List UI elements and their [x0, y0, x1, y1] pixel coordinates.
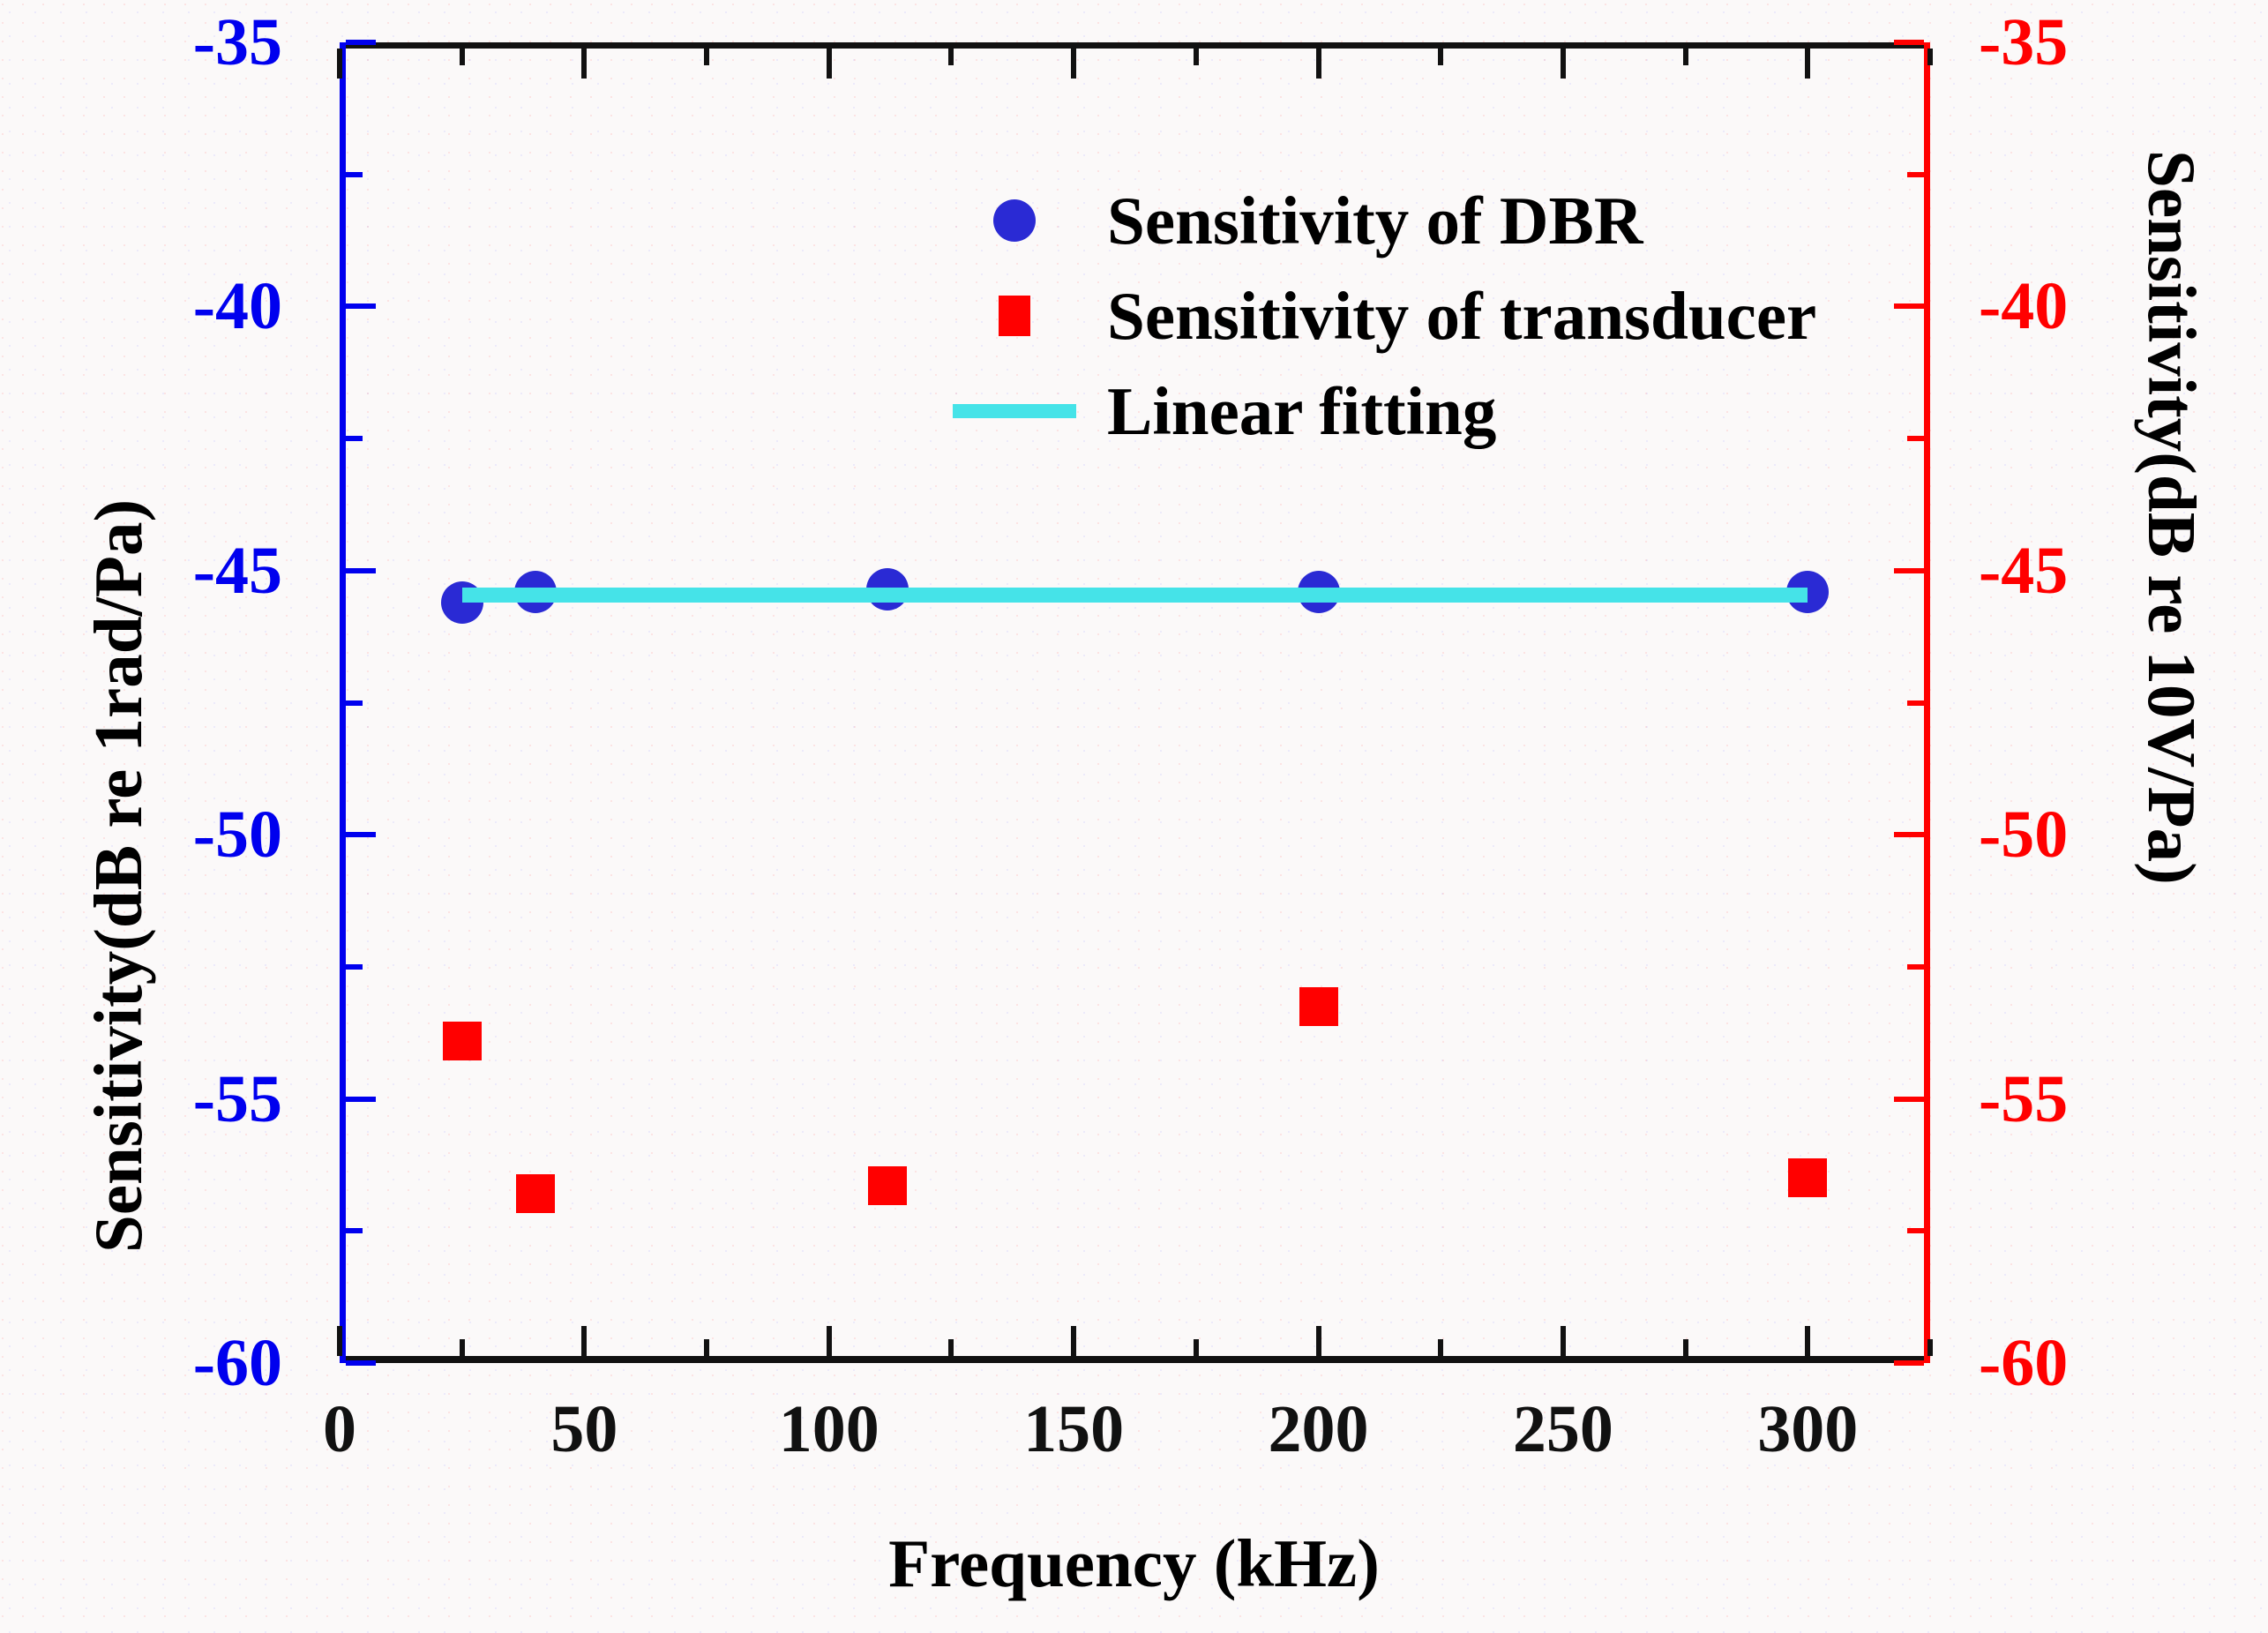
x-tick-label-0: 0	[207, 1396, 472, 1463]
x-tick-175	[1194, 1339, 1199, 1356]
x-tick-300	[1805, 1326, 1810, 1356]
x-tick-top-150	[1071, 49, 1076, 79]
y-tick-label-right--40: -40	[1979, 273, 2173, 340]
x-tick-top-0	[337, 49, 342, 79]
legend-item-label: Sensitivity of DBR	[1107, 187, 1643, 255]
legend-item-label: Sensitivity of transducer	[1107, 282, 1816, 350]
y-tick-label-left--55: -55	[106, 1066, 282, 1133]
chart-legend: Sensitivity of DBRSensitivity of transdu…	[922, 173, 1910, 459]
x-tick-125	[948, 1339, 954, 1356]
x-tick-top-225	[1438, 49, 1443, 65]
x-tick-150	[1071, 1326, 1076, 1356]
x-tick-top-75	[704, 49, 709, 65]
x-tick-200	[1316, 1326, 1321, 1356]
legend-item-2[interactable]: Linear fitting	[922, 363, 1910, 459]
top-axis-line	[340, 42, 1930, 49]
line-marker-icon	[953, 404, 1076, 418]
x-tick-0	[337, 1326, 342, 1356]
left-y-axis-title: Sensitivity(dB re 1rad/Pa)	[85, 499, 153, 1253]
x-tick-label-100: 100	[697, 1396, 962, 1463]
transducer-data-point-4	[1788, 1158, 1827, 1197]
y-tick-label-left--60: -60	[106, 1330, 282, 1397]
y-tick-left--52.5	[346, 964, 363, 970]
x-tick-top-50	[581, 49, 587, 79]
y-tick-left--42.5	[346, 436, 363, 441]
x-tick-top-25	[460, 49, 465, 65]
y-tick-label-right--50: -50	[1979, 801, 2173, 868]
y-tick-label-left--35: -35	[106, 9, 282, 76]
y-tick-right--55	[1894, 1097, 1924, 1102]
x-tick-label-300: 300	[1675, 1396, 1940, 1463]
legend-item-1[interactable]: Sensitivity of transducer	[922, 268, 1910, 363]
x-tick-75	[704, 1339, 709, 1356]
y-tick-left--60	[346, 1360, 376, 1366]
y-tick-label-left--50: -50	[106, 801, 282, 868]
x-tick-50	[581, 1326, 587, 1356]
y-tick-right--35	[1894, 40, 1924, 45]
x-axis-title: Frequency (kHz)	[0, 1530, 2268, 1598]
legend-item-label: Linear fitting	[1107, 378, 1496, 446]
x-tick-top-125	[948, 49, 954, 65]
chart-figure: Sensitivity(dB re 1rad/Pa) Sensitivity(d…	[0, 0, 2268, 1633]
x-tick-top-325	[1927, 49, 1933, 65]
y-tick-right--47.5	[1907, 700, 1924, 706]
transducer-data-point-2	[868, 1166, 907, 1205]
x-tick-250	[1561, 1326, 1566, 1356]
y-tick-left--47.5	[346, 700, 363, 706]
legend-marker-wrap-1	[922, 296, 1107, 336]
x-tick-label-150: 150	[941, 1396, 1206, 1463]
y-tick-left--45	[346, 568, 376, 573]
x-tick-top-275	[1683, 49, 1688, 65]
y-tick-right--60	[1894, 1360, 1924, 1366]
plot-area: Sensitivity of DBRSensitivity of transdu…	[340, 42, 1930, 1363]
y-tick-left--40	[346, 303, 376, 309]
y-tick-label-right--60: -60	[1979, 1330, 2173, 1397]
transducer-data-point-1	[516, 1174, 555, 1213]
y-tick-label-left--40: -40	[106, 273, 282, 340]
x-tick-label-200: 200	[1186, 1396, 1451, 1463]
y-tick-left--50	[346, 832, 376, 837]
square-marker-icon	[999, 296, 1030, 336]
left-axis-line	[340, 42, 346, 1363]
y-tick-label-right--55: -55	[1979, 1066, 2173, 1133]
y-tick-right--45	[1894, 568, 1924, 573]
x-tick-325	[1927, 1339, 1933, 1356]
y-tick-label-right--35: -35	[1979, 9, 2173, 76]
transducer-data-point-3	[1299, 987, 1338, 1026]
legend-marker-wrap-0	[922, 199, 1107, 242]
x-tick-top-300	[1805, 49, 1810, 79]
y-tick-right--52.5	[1907, 964, 1924, 970]
y-tick-right--57.5	[1907, 1228, 1924, 1233]
x-tick-top-100	[827, 49, 832, 79]
transducer-data-point-0	[443, 1022, 482, 1060]
y-tick-left--35	[346, 40, 376, 45]
linear-fit-line	[462, 588, 1808, 603]
y-tick-left--55	[346, 1097, 376, 1102]
x-tick-label-50: 50	[452, 1396, 716, 1463]
x-tick-top-200	[1316, 49, 1321, 79]
y-tick-right--50	[1894, 832, 1924, 837]
y-tick-left--37.5	[346, 172, 363, 177]
x-tick-275	[1683, 1339, 1688, 1356]
x-tick-top-175	[1194, 49, 1199, 65]
x-tick-25	[460, 1339, 465, 1356]
y-tick-label-right--45: -45	[1979, 537, 2173, 604]
legend-item-0[interactable]: Sensitivity of DBR	[922, 173, 1910, 268]
x-tick-225	[1438, 1339, 1443, 1356]
bottom-axis-line	[340, 1356, 1930, 1363]
x-tick-100	[827, 1326, 832, 1356]
y-tick-left--57.5	[346, 1228, 363, 1233]
legend-marker-wrap-2	[922, 404, 1107, 418]
x-tick-top-250	[1561, 49, 1566, 79]
right-axis-line	[1924, 42, 1930, 1363]
circle-marker-icon	[993, 199, 1036, 242]
right-y-axis-title: Sensitivity(dB re 10V/Pa)	[2137, 150, 2205, 885]
x-tick-label-250: 250	[1431, 1396, 1695, 1463]
y-tick-label-left--45: -45	[106, 537, 282, 604]
